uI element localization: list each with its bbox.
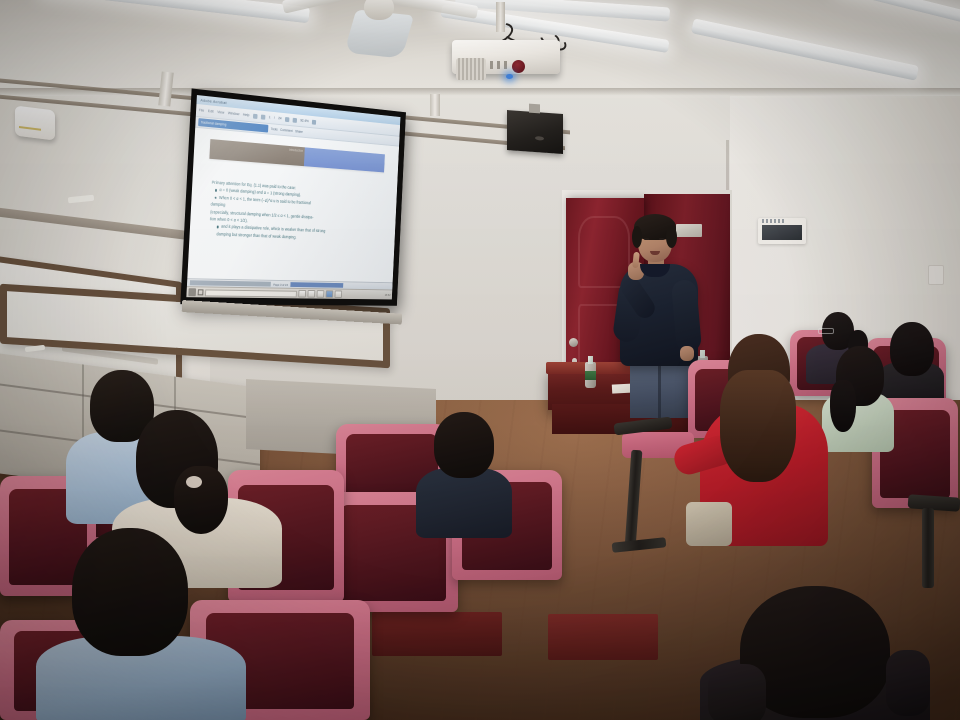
wifi-indicator-icon	[19, 126, 41, 131]
taskbar-app-icon-active[interactable]	[326, 290, 334, 298]
zoom-in-icon[interactable]	[293, 117, 297, 122]
zoom-out-icon[interactable]	[285, 117, 289, 122]
start-button-icon[interactable]	[188, 288, 196, 296]
screen-mount-right	[430, 94, 440, 116]
writing-tablet[interactable]	[548, 614, 658, 660]
presenter-eye	[644, 238, 649, 240]
student-5	[700, 334, 828, 544]
projection-screen: Adobe Acrobat File Edit View Window Help…	[180, 88, 406, 305]
wall-outlet	[928, 265, 944, 285]
save-icon[interactable]	[253, 113, 258, 118]
bullet-icon	[215, 189, 217, 191]
task-view-icon[interactable]	[198, 289, 204, 295]
bullet-icon	[215, 196, 217, 198]
hair-tie-icon	[186, 476, 202, 488]
page-number-current[interactable]: 1	[269, 115, 271, 119]
presenter-eye	[659, 238, 664, 240]
presenter-right-hand	[680, 346, 694, 361]
projector-lens	[512, 60, 525, 73]
tab-comment[interactable]: Comment	[280, 128, 293, 133]
fan-hub	[364, 0, 394, 20]
print-icon[interactable]	[261, 114, 266, 119]
taskbar-file-field[interactable]: 1.1_fractional_damping.pdf	[205, 289, 297, 297]
taskbar-app-icon[interactable]	[307, 290, 315, 298]
system-tray[interactable]: 16:42	[385, 293, 391, 297]
os-taskbar: 1.1_fractional_damping.pdf 16:42	[186, 286, 392, 299]
student-arm	[886, 650, 930, 716]
student-arm	[708, 664, 766, 720]
student-lap	[686, 502, 732, 546]
ac-control-panel[interactable]	[758, 218, 806, 244]
door-lock-icon[interactable]	[569, 338, 578, 347]
bullet-icon	[217, 226, 219, 228]
menu-help[interactable]: Help	[243, 113, 250, 118]
wall-speaker	[507, 110, 563, 154]
classroom-lecture-photo: Adobe Acrobat File Edit View Window Help…	[0, 0, 960, 720]
water-bottle[interactable]	[585, 356, 596, 388]
writing-tablet[interactable]	[372, 612, 502, 656]
ceiling-projector	[452, 28, 562, 80]
status-progress	[290, 282, 343, 288]
status-text: Page 3 of 24	[273, 282, 288, 286]
speaker-bracket	[529, 104, 540, 114]
highlight-caption: Introduction	[210, 139, 305, 153]
fit-page-icon[interactable]	[312, 119, 316, 124]
tab-tools[interactable]: Tools	[271, 127, 278, 131]
menu-edit[interactable]: Edit	[208, 109, 214, 114]
find-input-value: fractional damping	[201, 120, 227, 126]
taskbar-app-icon[interactable]	[298, 290, 306, 298]
pdf-page-canvas: Introduction Primary attention for Eq. (…	[186, 128, 399, 300]
menu-view[interactable]: View	[217, 110, 224, 115]
ac-panel-screen	[762, 225, 802, 240]
zoom-level[interactable]: 92.4%	[300, 119, 309, 124]
page-count: 24	[278, 116, 282, 120]
presenter-leg-seam	[658, 364, 661, 418]
student-long-hair	[720, 370, 796, 482]
bottle-label	[585, 371, 596, 380]
taskbar-app-icon[interactable]	[335, 290, 343, 298]
menu-window[interactable]: Window	[228, 111, 240, 116]
highlight-segment-gray: Introduction	[209, 139, 304, 166]
projected-image: Adobe Acrobat File Edit View Window Help…	[186, 95, 400, 299]
student-head	[890, 322, 934, 376]
seat-leg	[922, 508, 934, 588]
student-torso	[416, 468, 512, 538]
taskbar-app-icon[interactable]	[317, 290, 325, 298]
projector-controls[interactable]	[490, 61, 508, 69]
clock: 16:42	[385, 293, 391, 297]
student-head	[434, 412, 494, 478]
page-separator: /	[274, 116, 275, 120]
power-led-icon	[506, 74, 513, 79]
student-ponytail	[174, 466, 228, 534]
tab-share[interactable]: Share	[295, 129, 303, 133]
student-3	[36, 528, 246, 720]
wifi-access-point	[15, 106, 55, 141]
presenter-hair-side	[666, 226, 677, 248]
projector-vent	[456, 58, 486, 80]
slide-text-block: Primary attention for Eq. (1.1) was paid…	[209, 179, 386, 245]
student-4	[416, 412, 512, 532]
presenter-hair-side	[632, 226, 642, 248]
student-6	[822, 346, 894, 450]
student-9	[700, 586, 930, 720]
selection-highlight-bar: Introduction	[209, 139, 385, 172]
projector-body	[452, 40, 560, 74]
menu-file[interactable]: File	[199, 108, 205, 112]
highlight-segment-blue	[304, 147, 385, 172]
speaker-cone	[535, 136, 544, 141]
ac-panel-label	[762, 219, 784, 223]
student-head	[72, 528, 188, 656]
student-hair	[830, 380, 856, 432]
